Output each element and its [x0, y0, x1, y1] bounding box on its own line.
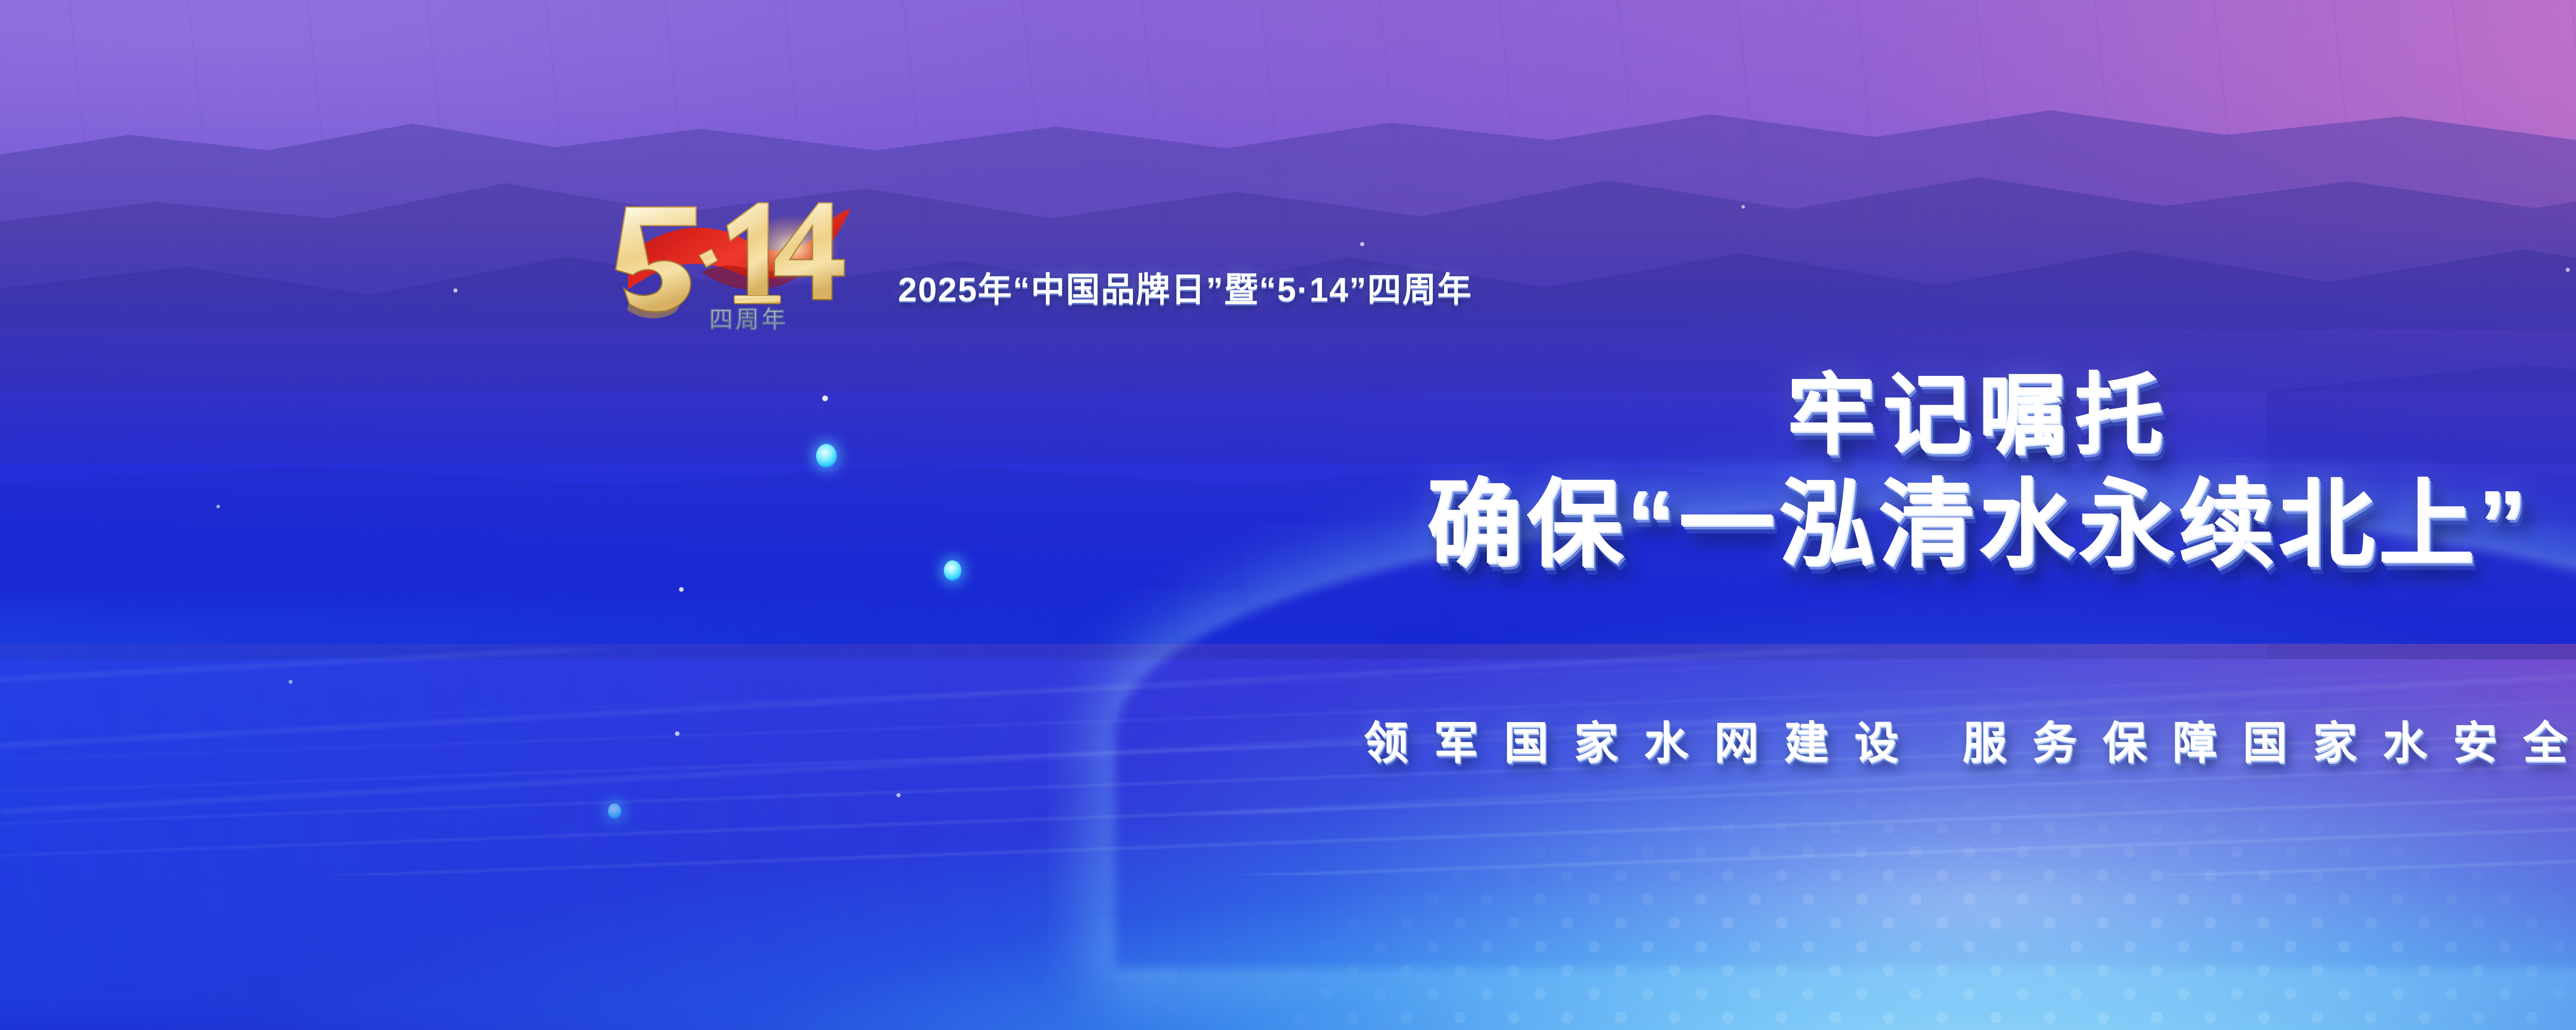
- date-line-text: 2025年“中国品牌日”暨“5·14”四周年: [898, 262, 1472, 312]
- subtitle-text: 领军国家水网建设 服务保障国家水安全: [0, 707, 2576, 771]
- headline-block: 牢记嘱托 确保“一泓清水永续北上”: [0, 371, 2576, 573]
- headline-line-1: 牢记嘱托: [0, 371, 2576, 459]
- headline-line-2: 确保“一泓清水永续北上”: [0, 477, 2576, 573]
- brand-day-banner: 四周年 2025年“中国品牌日”暨“5·14”四周年: [0, 0, 2576, 1030]
- five-fourteen-logo: 四周年: [611, 195, 868, 335]
- anniversary-label-text: 四周年: [709, 306, 788, 333]
- five-fourteen-logo-graphic: 四周年: [611, 195, 868, 335]
- anniversary-lockup: 四周年 2025年“中国品牌日”暨“5·14”四周年: [611, 195, 1472, 335]
